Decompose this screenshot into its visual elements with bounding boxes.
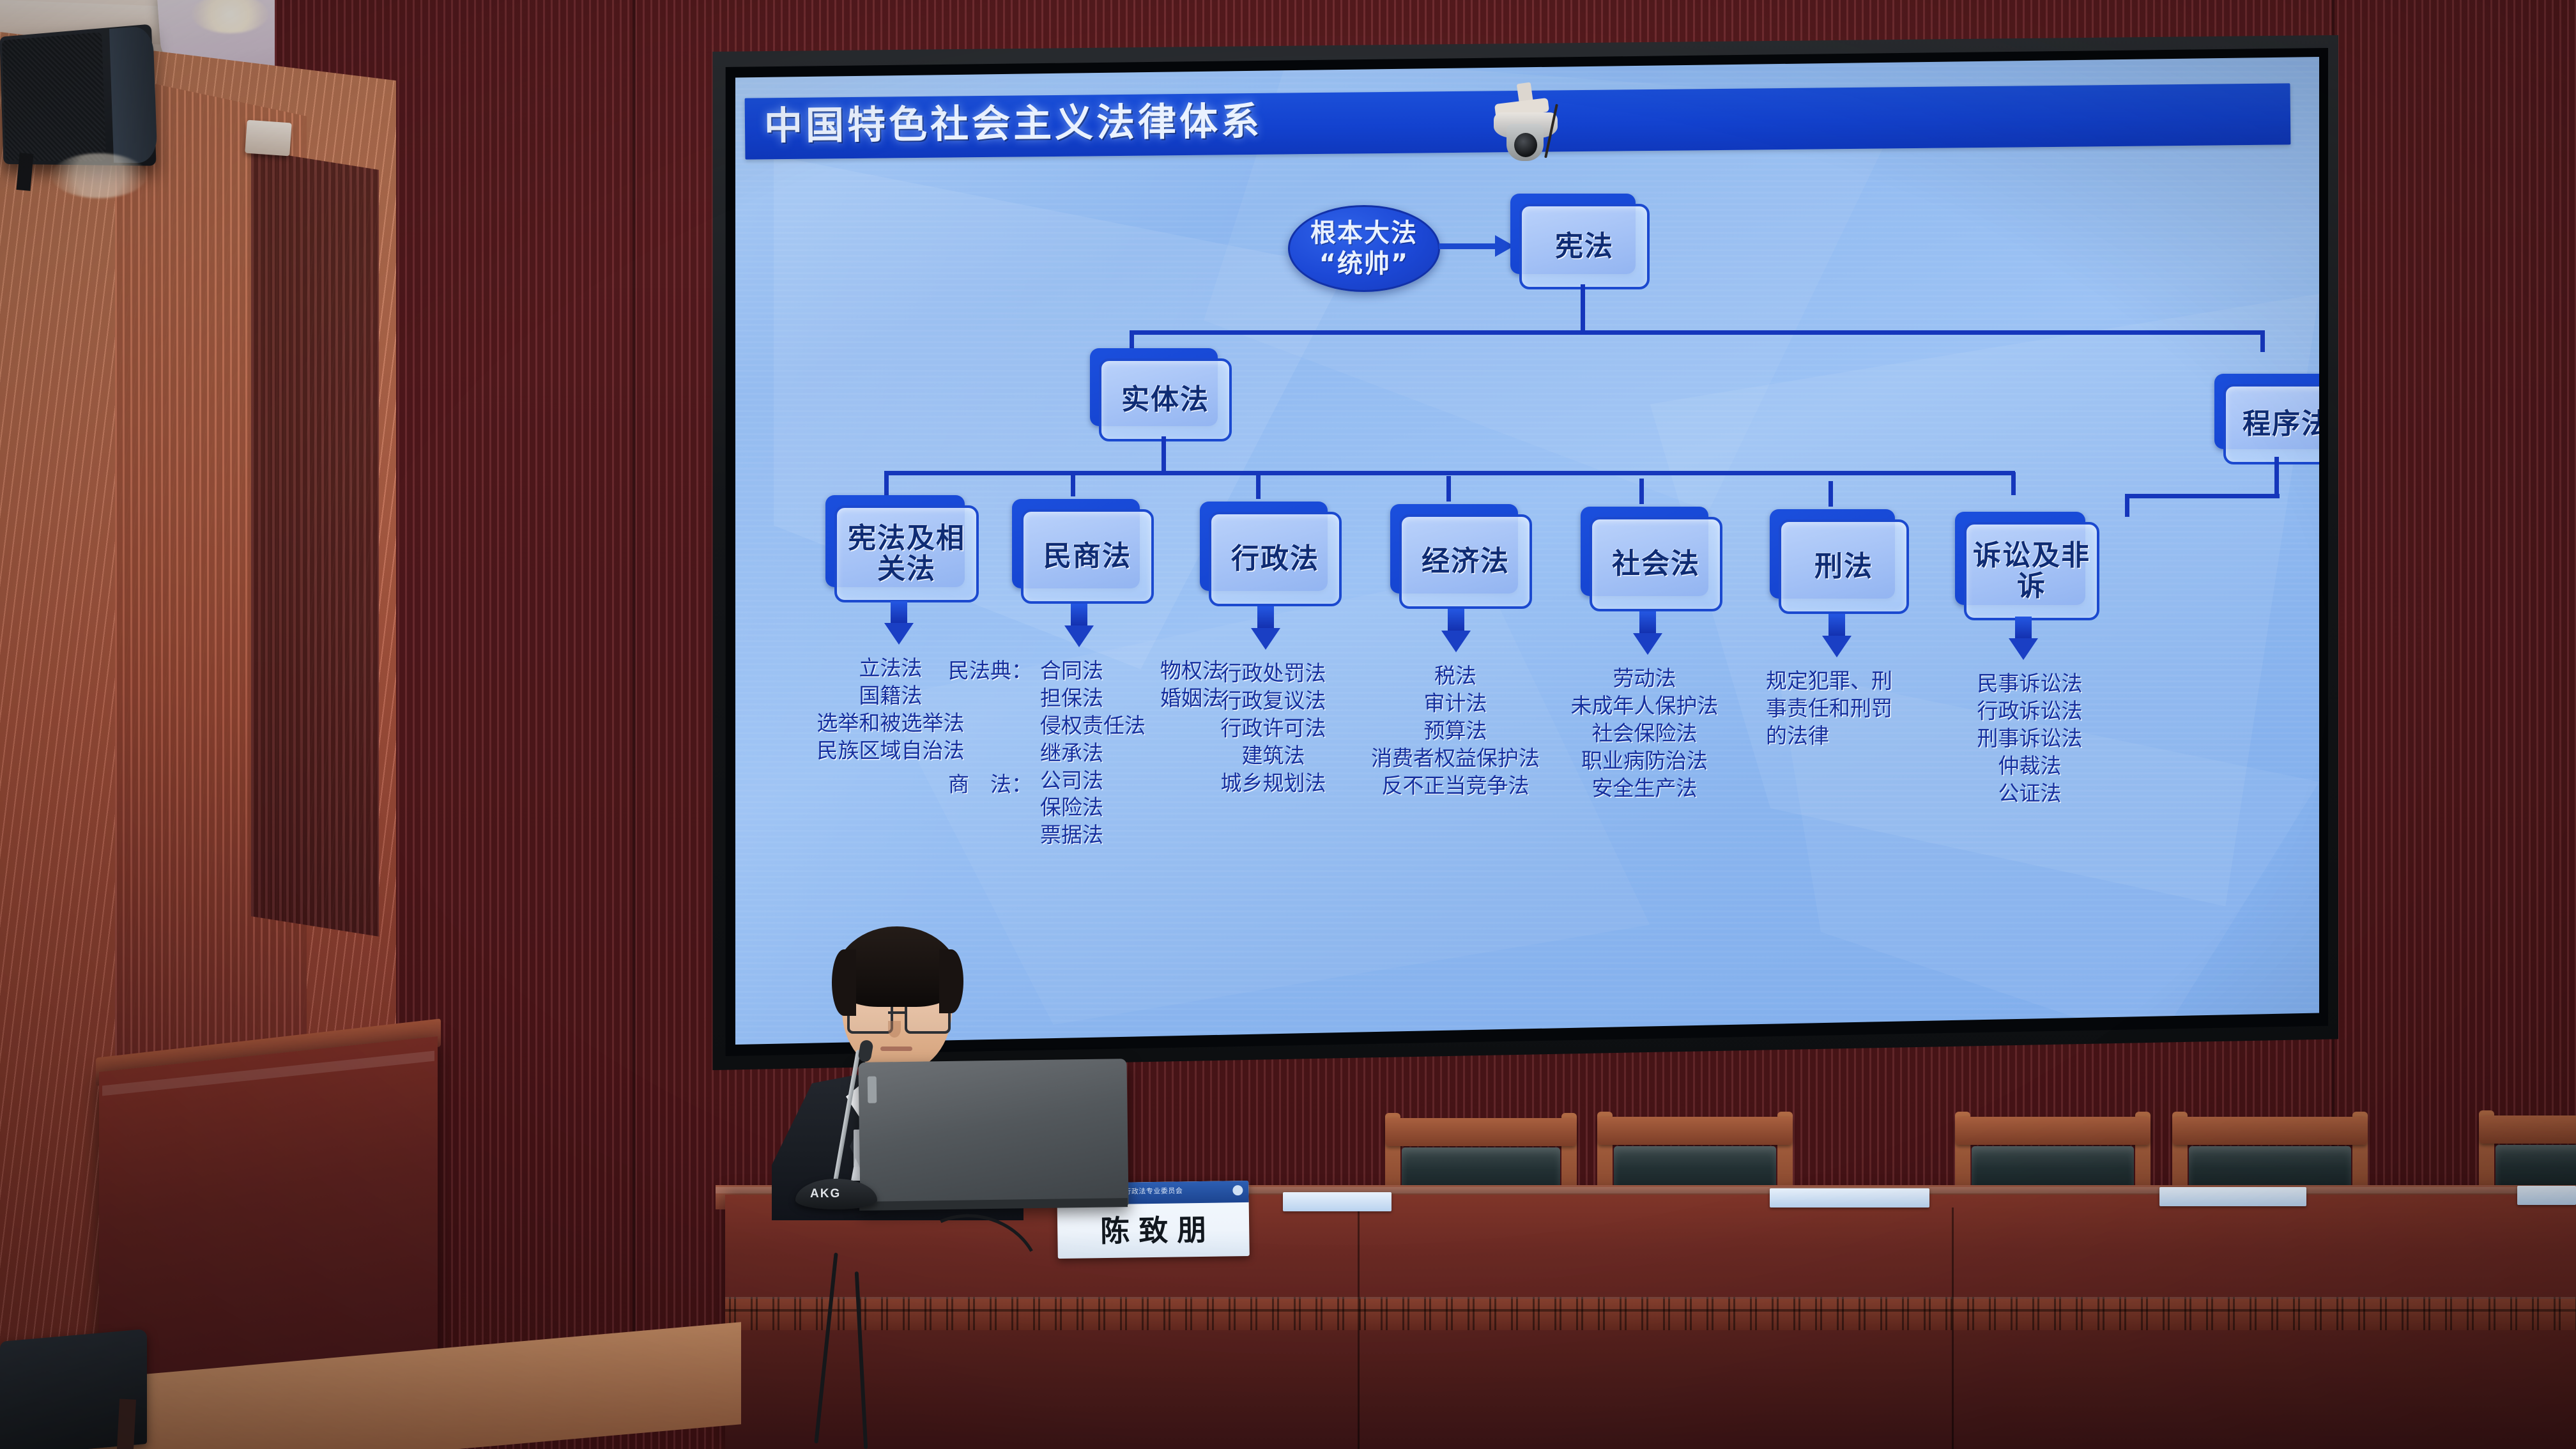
glasses-bridge: [888, 1011, 905, 1014]
node-label: 民商法: [1043, 541, 1131, 572]
node-label: 实体法: [1121, 385, 1209, 415]
leaf-list-procedural: 民事诉讼法 行政诉讼法 刑事诉讼法 仲裁法 公证法: [1937, 670, 2122, 807]
down-arrow-icon: [1064, 604, 1094, 647]
wall-seam: [632, 0, 636, 1342]
root-law-ellipse: 根本大法 “统帅”: [1288, 205, 1440, 292]
down-arrow-icon: [1441, 609, 1471, 652]
node-face: 诉讼及非 诉: [1964, 522, 2099, 620]
presenter-laptop: [858, 1059, 1128, 1209]
connector-horizontal: [1130, 330, 2264, 335]
connector-vertical: [2125, 494, 2129, 517]
screenshot-root: 中国特色社会主义法律体系 根本大法 “统帅” 宪法: [0, 0, 2576, 1449]
desk-placard: [2517, 1186, 2576, 1205]
wall-speaker: [0, 24, 157, 166]
arrow-to-constitution: [1439, 243, 1498, 249]
connector-vertical: [1639, 479, 1644, 504]
nameplate-name: 陈致朋: [1057, 1206, 1250, 1251]
presenter-hair-side: [939, 949, 963, 1013]
node-label: 程序法: [2242, 409, 2319, 440]
desk-placard: [1283, 1192, 1391, 1211]
camera-lens: [1514, 133, 1537, 157]
node-face: 实体法: [1099, 358, 1232, 441]
down-arrow-icon: [1633, 611, 1662, 655]
ptz-camera-icon: [1489, 93, 1564, 155]
down-arrow-icon: [1822, 614, 1851, 657]
chair-rail: [2479, 1115, 2576, 1144]
foreground-chair-leg: [117, 1399, 136, 1449]
down-arrow-icon: [884, 601, 914, 645]
laptop-logo: [868, 1077, 877, 1103]
root-law-line2: “统帅”: [1319, 249, 1409, 279]
connector-vertical: [2260, 330, 2265, 352]
leaf-list-criminal: 规定犯罪、刑 事责任和刑罚 的法律: [1766, 668, 1958, 750]
node-label: 诉讼及非 诉: [1973, 540, 2090, 601]
connector-vertical: [2011, 472, 2016, 495]
connector-vertical: [884, 471, 889, 496]
leaf-list-economic: 税法 审计法 预算法 消费者权益保护法 反不正当竞争法: [1360, 663, 1551, 799]
connector-vertical: [1161, 436, 1166, 473]
presenter-mouth: [880, 1046, 912, 1051]
leaf-list-administrative: 行政处罚法 行政复议法 行政许可法 建筑法 城乡规划法: [1181, 660, 1366, 797]
category-node-administrative: 行政法: [1200, 502, 1328, 591]
down-arrow-icon: [1251, 606, 1280, 650]
connector-horizontal: [2125, 494, 2280, 498]
node-label: 行政法: [1231, 544, 1319, 574]
node-label: 宪法及相 关法: [848, 523, 965, 584]
root-law-line1: 根本大法: [1310, 218, 1418, 249]
desk-front-panel: [725, 1330, 2576, 1449]
node-face: 行政法: [1209, 512, 1342, 606]
chair-rail: [1385, 1118, 1577, 1146]
node-face: 社会法: [1590, 517, 1722, 611]
connector-vertical: [1581, 284, 1585, 333]
presenter-hair-side: [832, 949, 856, 1016]
category-node-litigation: 诉讼及非 诉: [1955, 512, 2085, 605]
chair-rail: [2172, 1117, 2368, 1145]
desk-placard: [1770, 1188, 1929, 1207]
speaker-side-panel: [109, 25, 158, 163]
desk-seam: [1952, 1207, 1954, 1449]
node-constitution: 宪法: [1510, 194, 1636, 274]
node-procedural-law: 程序法: [2214, 374, 2319, 449]
slide-title: 中国特色社会主义法律体系: [763, 90, 1262, 150]
node-face: 经济法: [1399, 514, 1532, 609]
microphone-brand-label: AKG: [810, 1187, 841, 1201]
leaf-list-social: 劳动法 未成年人保护法 社会保险法 职业病防治法 安全生产法: [1546, 665, 1743, 802]
conference-room: 中国特色社会主义法律体系 根本大法 “统帅” 宪法: [0, 0, 2576, 1449]
node-face: 宪法: [1519, 204, 1650, 289]
chair-rail: [1955, 1117, 2150, 1145]
node-label: 刑法: [1814, 551, 1873, 582]
connector-vertical: [2274, 457, 2279, 496]
category-node-civil-commercial: 民商法: [1012, 499, 1140, 588]
node-face: 刑法: [1779, 519, 1909, 614]
node-face: 民商法: [1021, 509, 1154, 604]
leaf-prefix-civil-code: 民法典：: [917, 657, 1032, 685]
category-node-economic: 经济法: [1390, 504, 1518, 594]
wall-sensor-box: [245, 120, 291, 157]
node-substantive-law: 实体法: [1090, 348, 1218, 426]
presenter-nose: [888, 1021, 901, 1038]
connector-horizontal: [884, 471, 2015, 475]
desk-seam: [1358, 1207, 1360, 1449]
node-label: 宪法: [1555, 231, 1614, 262]
category-node-criminal: 刑法: [1770, 509, 1895, 599]
speaker-grille: [2, 32, 106, 161]
category-node-social: 社会法: [1581, 507, 1708, 596]
down-arrow-icon: [2009, 617, 2038, 660]
desk-placard: [2159, 1187, 2306, 1206]
connector-vertical: [1446, 476, 1451, 502]
left-wall-column: [251, 149, 379, 937]
display-surface: 中国特色社会主义法律体系 根本大法 “统帅” 宪法: [726, 57, 2319, 1045]
chair-rail: [1597, 1117, 1793, 1145]
node-label: 经济法: [1422, 546, 1510, 577]
connector-vertical: [1256, 473, 1261, 499]
wall-downlight: [51, 153, 147, 198]
category-node-constitutional: 宪法及相 关法: [825, 495, 965, 587]
node-label: 社会法: [1612, 549, 1700, 579]
node-face: 程序法: [2223, 384, 2319, 464]
connector-vertical: [1071, 471, 1075, 496]
presentation-slide: 中国特色社会主义法律体系 根本大法 “统帅” 宪法: [726, 57, 2319, 1045]
nameplate-dot-icon: [1232, 1185, 1243, 1195]
connector-vertical: [1828, 481, 1833, 507]
leaf-list-civil-commercial: 合同法 担保法 侵权责任法 继承法 公司法 保险法 票据法: [1040, 657, 1168, 849]
leaf-prefix-commercial-law: 商 法：: [917, 771, 1032, 799]
node-face: 宪法及相 关法: [834, 505, 979, 602]
